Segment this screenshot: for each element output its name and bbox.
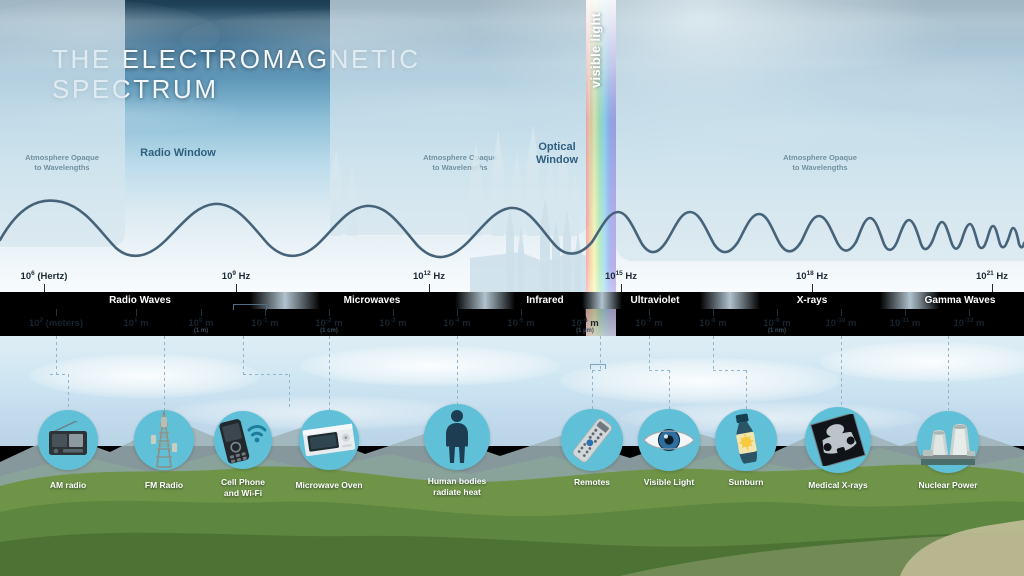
app-icon-fm-radio[interactable] — [134, 410, 194, 470]
connector-line — [243, 374, 289, 375]
connector-bracket — [590, 364, 606, 369]
connector-line — [649, 336, 650, 370]
wl-tick-label: 101 m — [123, 317, 148, 329]
wl-tick-label: 10-7 m — [635, 317, 662, 329]
remote-control-icon — [564, 415, 620, 465]
microwave-oven-icon — [302, 421, 356, 459]
wl-tick-sublabel: (1 nm) — [768, 328, 786, 334]
wl-tick-label: 10-8 m — [699, 317, 726, 329]
human-body-icon — [439, 409, 475, 465]
app-icon-microwave-oven[interactable] — [299, 410, 359, 470]
band-divider — [455, 292, 515, 309]
connector-line — [713, 370, 746, 371]
connector-line — [164, 336, 165, 410]
scale-bracket — [233, 304, 267, 310]
wl-tick-label: 10-4 m — [443, 317, 470, 329]
app-icon-am-radio[interactable] — [38, 410, 98, 470]
band-label-microwaves: Microwaves — [344, 292, 401, 309]
wl-tick-sublabel: (1 m) — [194, 328, 208, 334]
connector-line — [948, 336, 949, 410]
connector-line — [243, 336, 244, 374]
connector-line — [289, 374, 290, 410]
app-icon-visible-light[interactable] — [638, 409, 700, 471]
connector-line — [56, 336, 57, 374]
app-icon-remotes[interactable] — [561, 409, 623, 471]
spectrum-band: Radio Waves Microwaves Infrared Ultravio… — [0, 292, 1024, 309]
xray-film-icon — [810, 414, 866, 466]
freq-tick-label: 106 (Hertz) — [21, 270, 68, 282]
band-label-ultraviolet: Ultraviolet — [631, 292, 680, 309]
app-icon-nuclear-power[interactable] — [917, 411, 979, 473]
app-label-microwave-oven: Microwave Oven — [274, 480, 384, 491]
app-icon-human-body[interactable] — [424, 404, 490, 470]
freq-tick-label: 1021 Hz — [976, 270, 1008, 282]
app-icon-cell-phone-wifi[interactable] — [214, 411, 272, 469]
wl-tick-label: 10-11 m — [890, 317, 921, 329]
connector-line — [669, 370, 670, 410]
band-label-gamma-waves: Gamma Waves — [925, 292, 996, 309]
connector-line — [50, 374, 68, 375]
wavelength-axis: 102 (meters) 101 m 100 m (1 m) 10-1 m 10… — [0, 309, 1024, 339]
connector-line — [746, 370, 747, 410]
wl-tick-label: 10-5 m — [507, 317, 534, 329]
freq-tick-label: 1018 Hz — [796, 270, 828, 282]
app-icon-sunburn[interactable] — [715, 409, 777, 471]
app-icon-medical-xrays[interactable] — [805, 407, 871, 473]
wl-tick-label: 10-10 m — [826, 317, 857, 329]
wl-tick-label: 102 (meters) — [29, 317, 83, 329]
connector-line — [68, 374, 69, 408]
wl-tick-sublabel: (1 µm) — [576, 328, 594, 334]
antenna-tower-icon — [147, 411, 181, 469]
sunscreen-bottle-icon — [729, 413, 763, 467]
band-divider — [700, 292, 760, 309]
frequency-axis: 106 (Hertz) 109 Hz 1012 Hz 1015 Hz 1018 … — [0, 264, 1024, 294]
connector-line — [841, 336, 842, 406]
app-label-nuclear-power: Nuclear Power — [893, 480, 1003, 491]
connector-line — [592, 370, 602, 371]
band-label-radio-waves: Radio Waves — [109, 292, 171, 309]
connector-line — [329, 336, 330, 410]
band-label-xrays: X-rays — [797, 292, 828, 309]
cellphone-wifi-icon — [218, 414, 268, 466]
connector-line — [713, 336, 714, 370]
app-label-am-radio: AM radio — [13, 480, 123, 491]
app-label-medical-xrays: Medical X-rays — [783, 480, 893, 491]
freq-tick-label: 1012 Hz — [413, 270, 445, 282]
radio-icon — [45, 421, 91, 459]
freq-tick-label: 109 Hz — [222, 270, 250, 282]
nuclear-plant-icon — [919, 419, 977, 465]
band-divider — [582, 292, 622, 309]
wl-tick-label: 10-12 m — [954, 317, 985, 329]
wl-tick-label: 10-1 m — [251, 317, 278, 329]
freq-tick-label: 1015 Hz — [605, 270, 637, 282]
connector-line — [457, 336, 458, 404]
waveform-curve — [0, 0, 1024, 300]
eye-icon — [642, 425, 696, 455]
band-label-infrared: Infrared — [526, 292, 563, 309]
app-label-human-body: Human bodies radiate heat — [402, 476, 512, 498]
infographic-root: THE ELECTROMAGNETIC SPECTRUM Atmosphere … — [0, 0, 1024, 576]
connector-line — [592, 370, 593, 410]
wl-tick-label: 10-3 m — [379, 317, 406, 329]
connector-line — [649, 370, 669, 371]
wl-tick-sublabel: (1 cm) — [320, 328, 338, 334]
